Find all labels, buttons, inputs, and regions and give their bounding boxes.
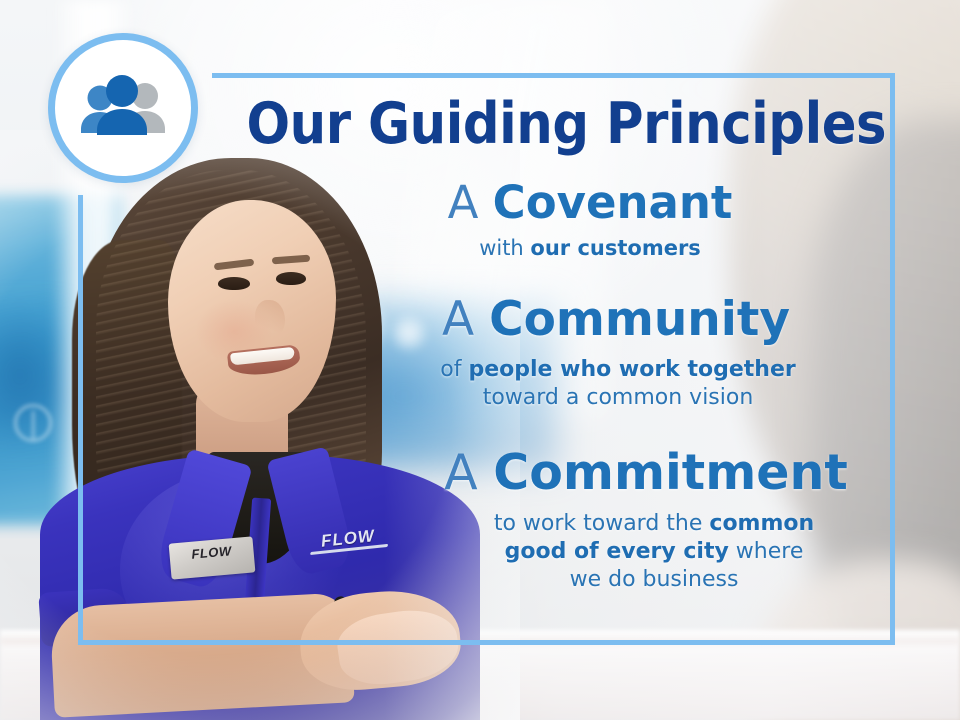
subject-eye-left bbox=[218, 277, 250, 290]
plain-text: toward a common vision bbox=[483, 385, 754, 410]
principle-description-line: we do business bbox=[428, 566, 880, 594]
emphasis-text: good of every city bbox=[505, 539, 729, 564]
principle-article: A bbox=[448, 176, 479, 229]
principle-community: A Community of people who work togethert… bbox=[300, 296, 880, 412]
principle-article: A bbox=[444, 444, 478, 501]
principle-keyword: Commitment bbox=[493, 444, 848, 501]
page-title: Our Guiding Principles bbox=[247, 96, 850, 153]
people-group-icon bbox=[75, 73, 171, 143]
subject-name-badge: FLOW bbox=[169, 536, 256, 579]
principle-keyword: Covenant bbox=[493, 176, 733, 229]
principle-description-line: good of every city where bbox=[428, 538, 880, 566]
plain-text: of bbox=[440, 357, 468, 382]
name-badge-brand-text: FLOW bbox=[191, 543, 232, 561]
principle-description: with our customers bbox=[300, 235, 880, 262]
people-group-badge bbox=[48, 33, 198, 183]
principle-description-line: of people who work together bbox=[356, 356, 880, 384]
subject-teeth bbox=[230, 347, 295, 366]
principle-description-line: toward a common vision bbox=[356, 384, 880, 412]
principle-description-line: to work toward the common bbox=[428, 510, 880, 538]
principle-heading: A Commitment bbox=[300, 448, 880, 498]
principle-keyword: Community bbox=[489, 292, 790, 347]
plain-text: where bbox=[729, 539, 804, 564]
principles-list: A Covenant with our customers A Communit… bbox=[300, 180, 880, 600]
plain-text: we do business bbox=[570, 567, 739, 592]
emphasis-text: people who work together bbox=[468, 357, 795, 382]
plain-text: with bbox=[479, 236, 530, 260]
principle-commitment: A Commitment to work toward the commongo… bbox=[300, 448, 880, 594]
guiding-principles-graphic: FLOW FLOW Our Gu bbox=[0, 0, 960, 720]
emphasis-text: common bbox=[709, 511, 814, 536]
principle-description: to work toward the commongood of every c… bbox=[300, 510, 880, 594]
principle-heading: A Community bbox=[300, 296, 880, 344]
plain-text: to work toward the bbox=[494, 511, 710, 536]
principle-description-line: with our customers bbox=[300, 235, 880, 262]
principle-description: of people who work togethertoward a comm… bbox=[300, 356, 880, 412]
principle-article: A bbox=[442, 292, 474, 347]
subject-nose bbox=[255, 300, 285, 340]
emphasis-text: our customers bbox=[530, 236, 700, 260]
principle-covenant: A Covenant with our customers bbox=[300, 180, 880, 262]
principle-heading: A Covenant bbox=[300, 180, 880, 226]
